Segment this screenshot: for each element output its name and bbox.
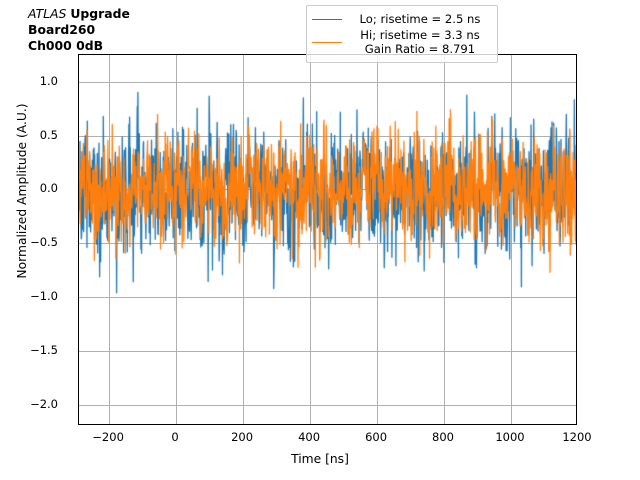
x-tick-label: 1200 [562, 430, 591, 444]
annotation-board: Board260 [28, 22, 130, 38]
chart-legend: Lo; risetime = 2.5 nsHi; risetime = 3.3 … [306, 5, 498, 63]
y-tick-label: −2.0 [30, 397, 58, 411]
y-tick-label: 1.0 [40, 74, 58, 88]
y-tick-label: 0.5 [40, 128, 58, 142]
x-tick-label: 1000 [495, 430, 524, 444]
y-tick-label: −1.5 [30, 343, 58, 357]
plot-axes [78, 54, 577, 425]
x-tick [511, 424, 512, 425]
annotation-channel: Ch000 0dB [28, 38, 130, 54]
legend-color-swatch [312, 42, 342, 43]
y-tick-label: −0.5 [30, 235, 58, 249]
x-tick [176, 424, 177, 425]
x-tick-label: 400 [298, 430, 320, 444]
legend-label-line: Gain Ratio = 8.791 [350, 42, 490, 56]
x-tick-label: −200 [92, 430, 124, 444]
legend-label-line: Lo; risetime = 2.5 ns [350, 12, 490, 26]
x-tick-label: 0 [171, 430, 178, 444]
legend-entry: Hi; risetime = 3.3 nsGain Ratio = 8.791 [312, 27, 490, 57]
x-tick [310, 424, 311, 425]
y-axis-title: Normalized Amplitude (A.U.) [15, 1, 29, 381]
y-tick-label: 0.0 [40, 181, 58, 195]
x-axis-title: Time [ns] [0, 452, 640, 466]
legend-label-line: Hi; risetime = 3.3 ns [350, 28, 490, 42]
y-tick-label: −1.0 [30, 289, 58, 303]
legend-entry: Lo; risetime = 2.5 ns [312, 11, 490, 27]
x-tick-label: 600 [365, 430, 387, 444]
trace-canvas [79, 55, 577, 425]
atlas-annotation: ATLAS Upgrade Board260 Ch000 0dB [28, 6, 130, 54]
annotation-line-1: ATLAS Upgrade [28, 6, 130, 22]
x-tick [109, 424, 110, 425]
x-tick-label: 800 [432, 430, 454, 444]
x-tick [243, 424, 244, 425]
legend-label: Lo; risetime = 2.5 ns [350, 12, 490, 26]
x-tick [377, 424, 378, 425]
legend-label: Hi; risetime = 3.3 nsGain Ratio = 8.791 [350, 28, 490, 56]
x-tick [444, 424, 445, 425]
atlas-label: ATLAS [28, 6, 66, 21]
upgrade-label: Upgrade [70, 6, 130, 21]
legend-color-swatch [312, 19, 342, 20]
x-tick-label: 200 [231, 430, 253, 444]
figure-canvas: 1.00.50.0−0.5−1.0−1.5−2.0 −2000200400600… [0, 0, 640, 480]
